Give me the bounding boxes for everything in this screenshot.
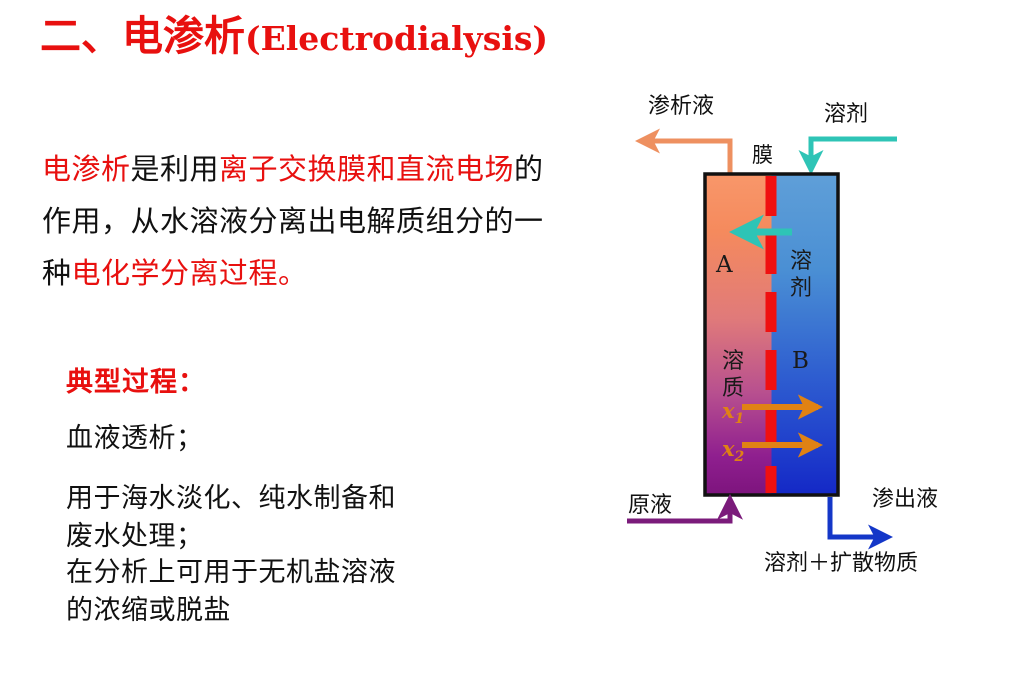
flux-x1-subscript: 1 <box>735 411 745 427</box>
label-membrane: 膜 <box>752 139 773 169</box>
slide-canvas: 二、电渗析(Electrodialysis) 电渗析是利用离子交换膜和直流电场的… <box>0 0 1009 676</box>
label-flux-x2: x2 <box>722 436 744 465</box>
solvent-inlet-arrow <box>811 139 897 170</box>
label-dialysate: 渗析液 <box>648 88 714 120</box>
dialysate-outlet-arrow <box>640 141 730 176</box>
flux-x2-symbol: x <box>722 436 735 461</box>
label-feed: 原液 <box>628 487 672 519</box>
label-solute-side: 溶质 <box>722 348 744 402</box>
label-solvent-inlet: 溶剂 <box>824 96 868 128</box>
label-solvent-side: 溶剂 <box>790 248 812 302</box>
label-permeate: 渗出液 <box>872 481 938 513</box>
label-permeate-detail: 溶剂＋扩散物质 <box>764 545 918 577</box>
flux-x1-symbol: x <box>722 398 735 423</box>
label-chamber-b: B <box>792 348 809 374</box>
flux-x2-subscript: 2 <box>735 449 745 465</box>
label-flux-x1: x1 <box>722 398 744 427</box>
label-chamber-a: A <box>716 252 733 278</box>
